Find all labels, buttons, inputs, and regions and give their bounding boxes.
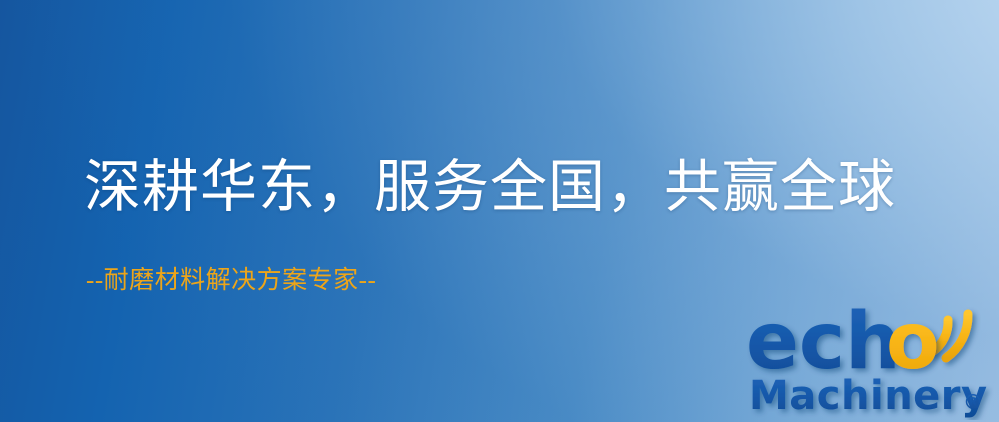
logo-graphic: ech o Machinery ® [746, 296, 994, 420]
echo-machinery-logo[interactable]: ech o Machinery ® [746, 296, 994, 420]
page-title: 深耕华东，服务全国，共赢全球 [84, 158, 896, 218]
logo-tagline: Machinery [749, 373, 988, 419]
registered-trademark-icon: ® [963, 390, 983, 414]
banner-subtitle: --耐磨材料解决方案专家-- [86, 266, 376, 296]
promo-banner: 深耕华东，服务全国，共赢全球 --耐磨材料解决方案专家-- [0, 0, 999, 422]
